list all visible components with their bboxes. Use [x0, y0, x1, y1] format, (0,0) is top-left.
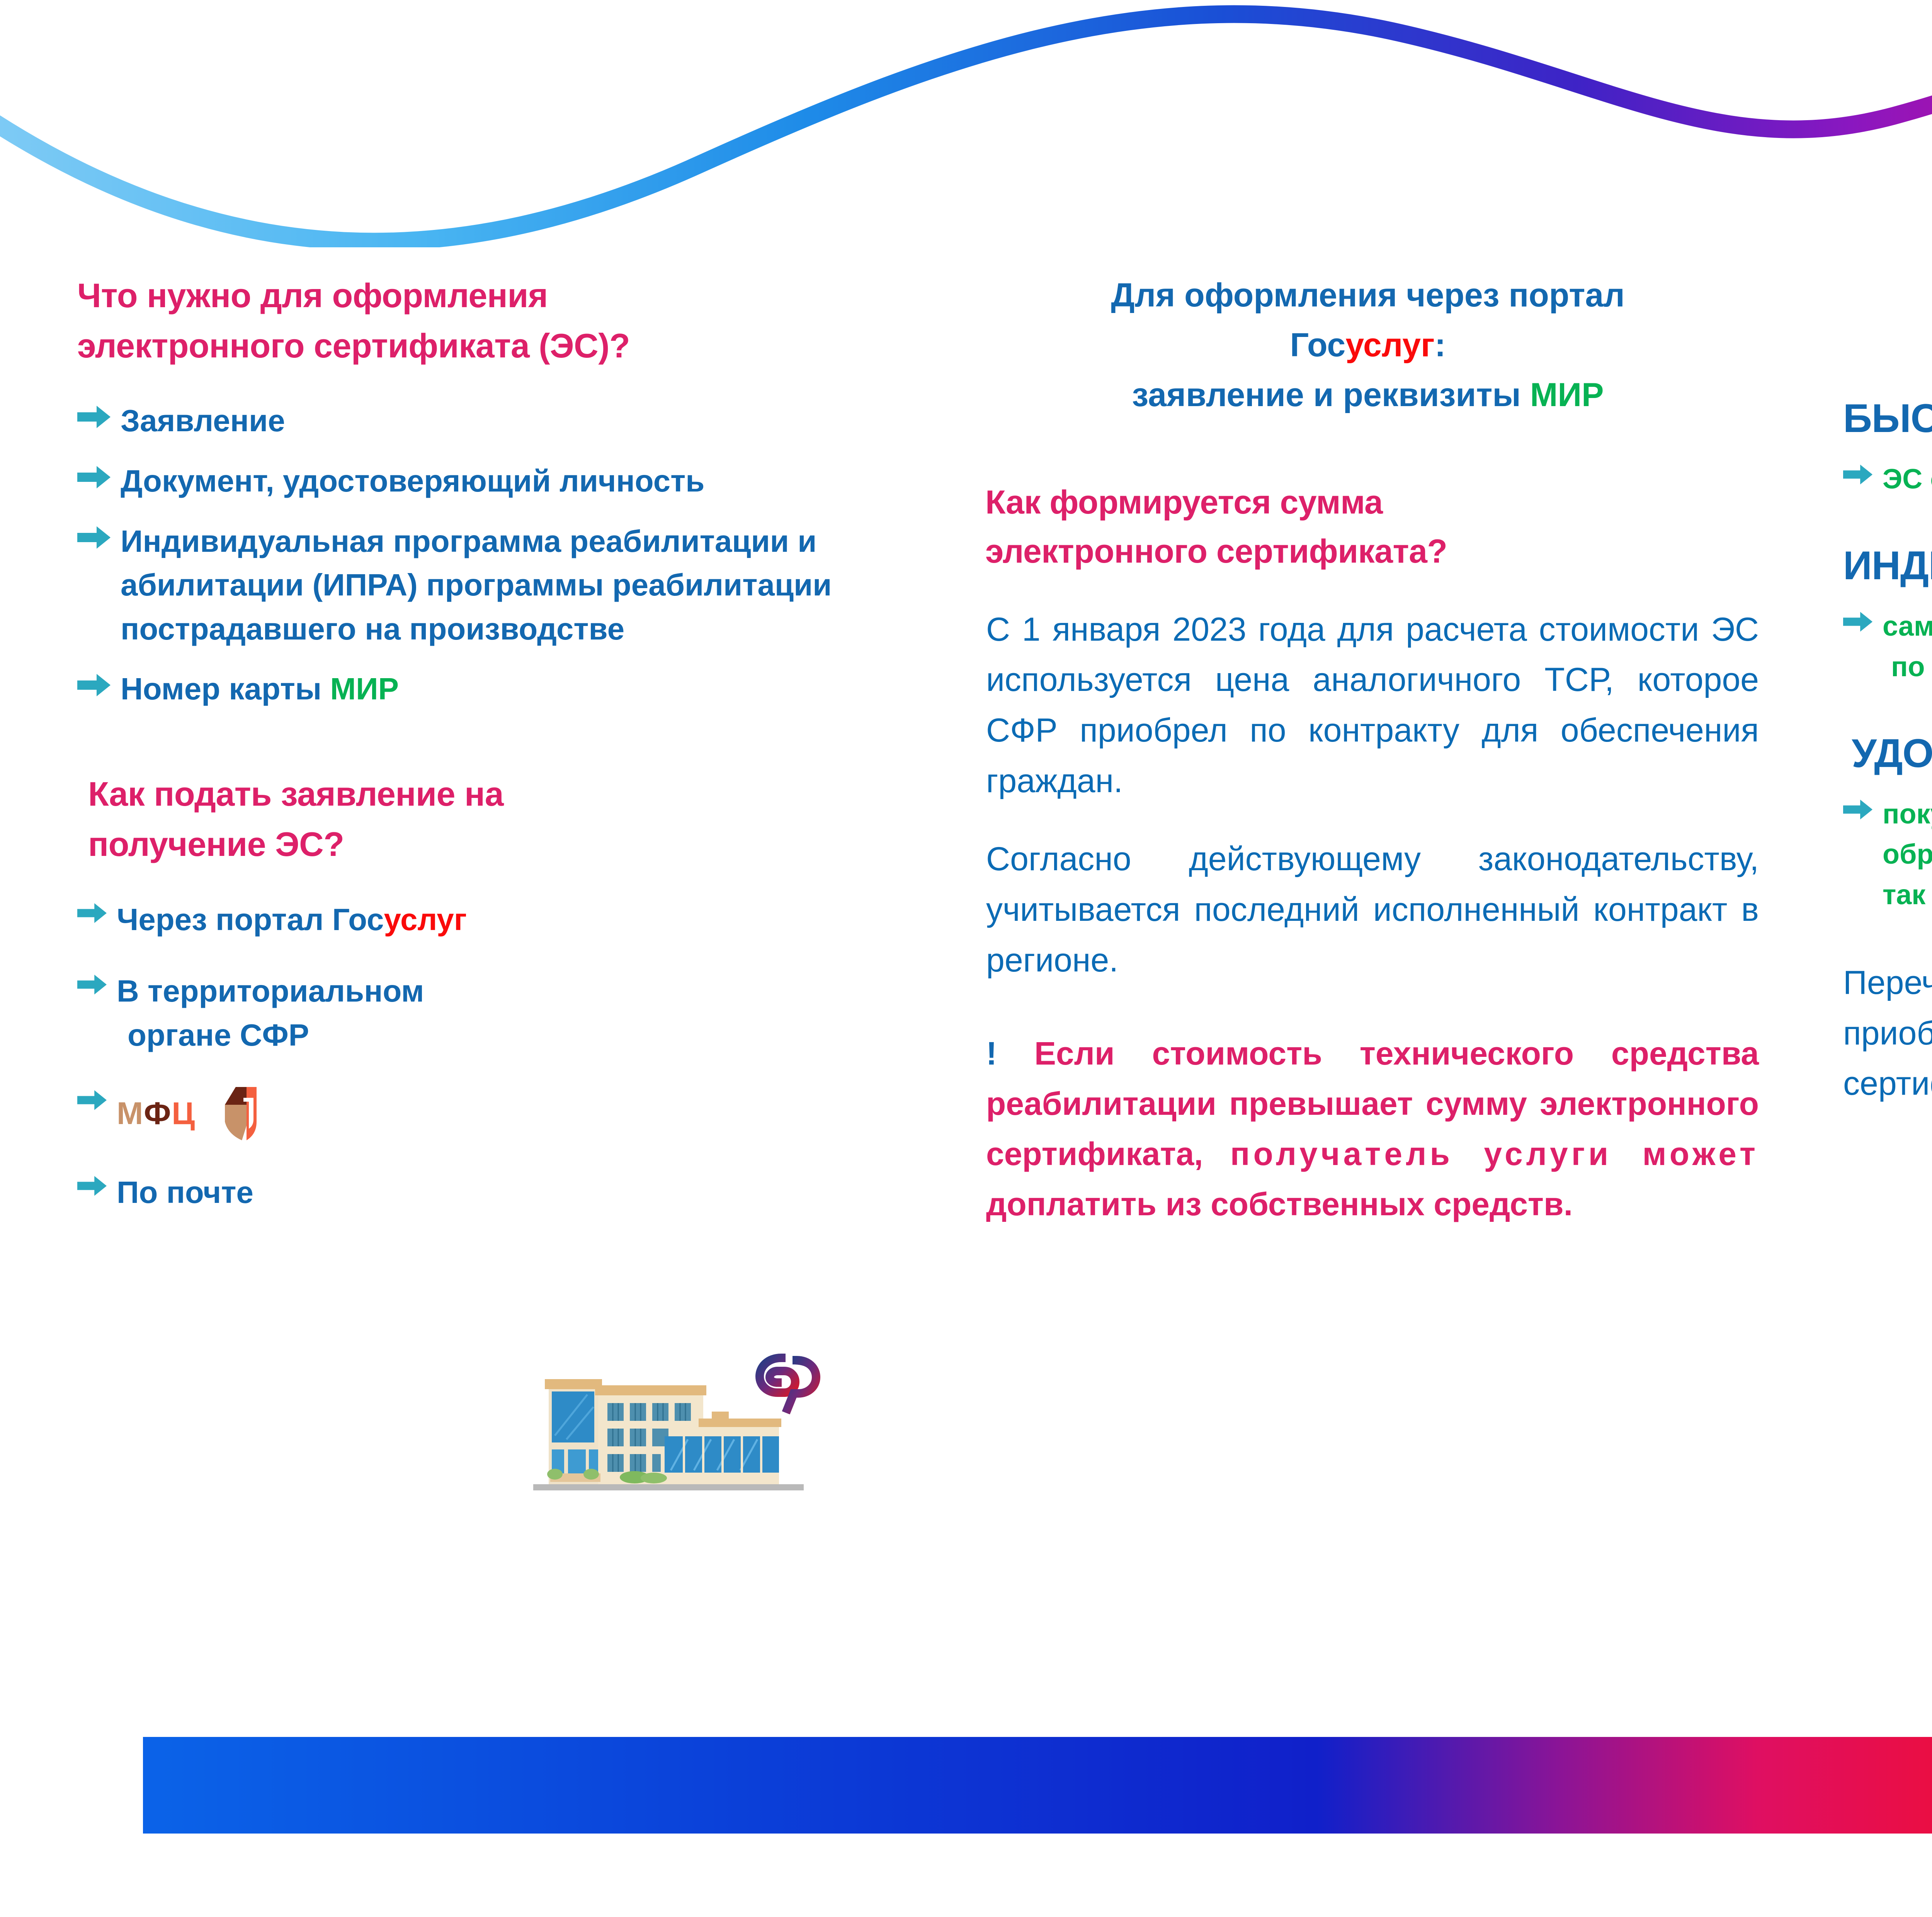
requirement-item-3: Индивидуальная программа реабилитации и …: [77, 519, 939, 651]
how-item-sfr-office: В территориальном органе СФР: [77, 969, 939, 1057]
right-heading: ПРЕИМУЩЕСТВА ЭС:: [1843, 313, 1932, 367]
middle-heading-line-3-text: заявление и реквизиты: [1132, 376, 1530, 413]
brochure-page: Что нужно для оформления электронного се…: [0, 0, 1932, 1917]
advantage-title-fast: БЫСТРО: [1843, 395, 1932, 443]
requirement-item-4-prefix: Номер карты: [121, 672, 330, 706]
warning-block: ! Если стоимость технического средства р…: [986, 1028, 1759, 1230]
middle-heading-line-3: заявление и реквизиты МИР: [966, 370, 1770, 420]
arrow-right-icon: [1843, 799, 1872, 820]
middle-heading-line-1: Для оформления через портал: [966, 270, 1770, 320]
how-item-gosuslugi-label: Через портал Госуслуг: [117, 898, 467, 942]
mir-accent: МИР: [1530, 376, 1604, 413]
advantage-convenient-line-2: обратившись в точки продаж,: [1883, 834, 1932, 874]
top-wave-decoration: [0, 0, 1932, 247]
advantage-title-convenient: УДОБНО: [1843, 730, 1932, 778]
advantage-fast-bullet-1-label: ЭС оформляется 5 рабочих дней: [1883, 459, 1932, 499]
arrow-right-icon: [77, 466, 111, 488]
arrow-right-icon: [77, 674, 111, 696]
advantage-individual-line-1: самостоятельный выбор ТСР: [1883, 606, 1932, 646]
how-item-gosuslugi: Через портал Госуслуг: [77, 898, 939, 942]
left-heading-2-line-2: получение ЭС?: [88, 819, 939, 869]
mfc-letter-f: Ф: [144, 1096, 172, 1131]
amount-paragraph-1: С 1 января 2023 года для расчета стоимос…: [986, 604, 1759, 806]
middle-subheading-line-2: электронного сертификата?: [985, 527, 1770, 576]
requirement-item-2-label: Документ, удостоверяющий личность: [121, 459, 704, 503]
sfr-logo-icon: [753, 1352, 823, 1414]
warning-exclamation: !: [986, 1035, 997, 1072]
middle-subheading-line-1: Как формируется сумма: [985, 478, 1770, 527]
arrow-right-icon: [77, 1090, 107, 1110]
content-columns: Что нужно для оформления электронного се…: [0, 270, 1932, 1739]
arrow-right-icon: [77, 903, 107, 923]
warning-text-part-3: доплатить из собственных средств.: [986, 1186, 1573, 1222]
warning-text-part-2: получатель услуги может: [1230, 1136, 1759, 1172]
advantage-title-individual: ИНДИВИДУАЛЬНО: [1843, 542, 1932, 590]
advantage-convenient-bullet-1: покупки можно совершить как лично, обрат…: [1843, 794, 1932, 915]
mfc-letter-m: М: [117, 1096, 144, 1131]
middle-heading: Для оформления через портал Госуслуг: за…: [966, 270, 1770, 420]
advantage-individual-line-2: по каталогу: [1883, 647, 1932, 687]
left-heading-1: Что нужно для оформления электронного се…: [77, 270, 939, 371]
gosuslugi-prefix: Через портал Гос: [117, 902, 384, 937]
requirement-item-3-label: Индивидуальная программа реабилитации и …: [121, 519, 901, 651]
advantage-convenient-bullet-lines: покупки можно совершить как лично, обрат…: [1883, 794, 1932, 915]
amount-paragraph-2: Согласно действующему законодательству, …: [986, 834, 1759, 985]
how-item-mail-label: По почте: [117, 1170, 253, 1214]
gosuslugi-colon: :: [1435, 327, 1446, 364]
requirement-item-1: Заявление: [77, 399, 939, 443]
middle-subheading: Как формируется сумма электронного серти…: [966, 478, 1770, 577]
advantage-convenient-line-1: покупки можно совершить как лично,: [1883, 794, 1932, 834]
requirement-item-4: Номер карты МИР: [77, 667, 939, 711]
advantage-convenient-line-3: так и онлайн, не выходя из дома: [1883, 875, 1932, 915]
arrow-right-icon: [77, 975, 107, 995]
gosuslugi-blue-part: Гос: [1290, 327, 1345, 364]
how-item-mail: По почте: [77, 1170, 939, 1214]
gosuslugi-red-part: услуг: [1345, 327, 1435, 364]
how-item-mfc: МФЦ: [77, 1085, 939, 1143]
left-heading-2: Как подать заявление на получение ЭС?: [77, 769, 939, 869]
how-item-sfr-office-line-2: органе СФР: [117, 1013, 424, 1057]
bottom-gradient-bar: [143, 1737, 1932, 1834]
column-amount: Для оформления через портал Госуслуг: за…: [966, 270, 1770, 1229]
mfc-label-row: МФЦ: [117, 1085, 260, 1143]
requirement-item-4-label: Номер карты МИР: [121, 667, 399, 711]
advantage-fast-bullet-1: ЭС оформляется 5 рабочих дней: [1843, 459, 1932, 499]
arrow-right-icon: [1843, 464, 1872, 485]
left-heading-1-line-1: Что нужно для оформления: [77, 270, 939, 321]
middle-heading-line-2: Госуслуг:: [966, 320, 1770, 370]
column-requirements: Что нужно для оформления электронного се…: [77, 270, 939, 1214]
gosuslugi-accent: услуг: [384, 902, 467, 937]
mfc-logo-icon: [219, 1085, 260, 1143]
requirement-item-1-label: Заявление: [121, 399, 285, 443]
arrow-right-icon: [1843, 612, 1872, 632]
arrow-right-icon: [77, 1176, 107, 1196]
mfc-label: МФЦ: [117, 1098, 196, 1129]
left-heading-1-line-2: электронного сертификата (ЭС)?: [77, 321, 939, 371]
how-item-sfr-office-line-1: В территориальном: [117, 969, 424, 1013]
requirement-item-2: Документ, удостоверяющий личность: [77, 459, 939, 503]
advantages-footer-paragraph: Перечень технических средств реабилитаци…: [1843, 958, 1932, 1109]
column-advantages: ПРЕИМУЩЕСТВА ЭС: БЫСТРО ЭС оформляется 5…: [1843, 270, 1932, 1109]
advantage-individual-bullet-1: самостоятельный выбор ТСР по каталогу: [1843, 606, 1932, 687]
advantage-individual-bullet-lines: самостоятельный выбор ТСР по каталогу: [1883, 606, 1932, 687]
arrow-right-icon: [77, 526, 111, 549]
arrow-right-icon: [77, 406, 111, 428]
mfc-letter-c: Ц: [172, 1096, 196, 1131]
how-item-sfr-office-label: В территориальном органе СФР: [117, 969, 424, 1057]
mir-card-accent: МИР: [330, 672, 399, 706]
left-heading-2-line-1: Как подать заявление на: [88, 769, 939, 819]
